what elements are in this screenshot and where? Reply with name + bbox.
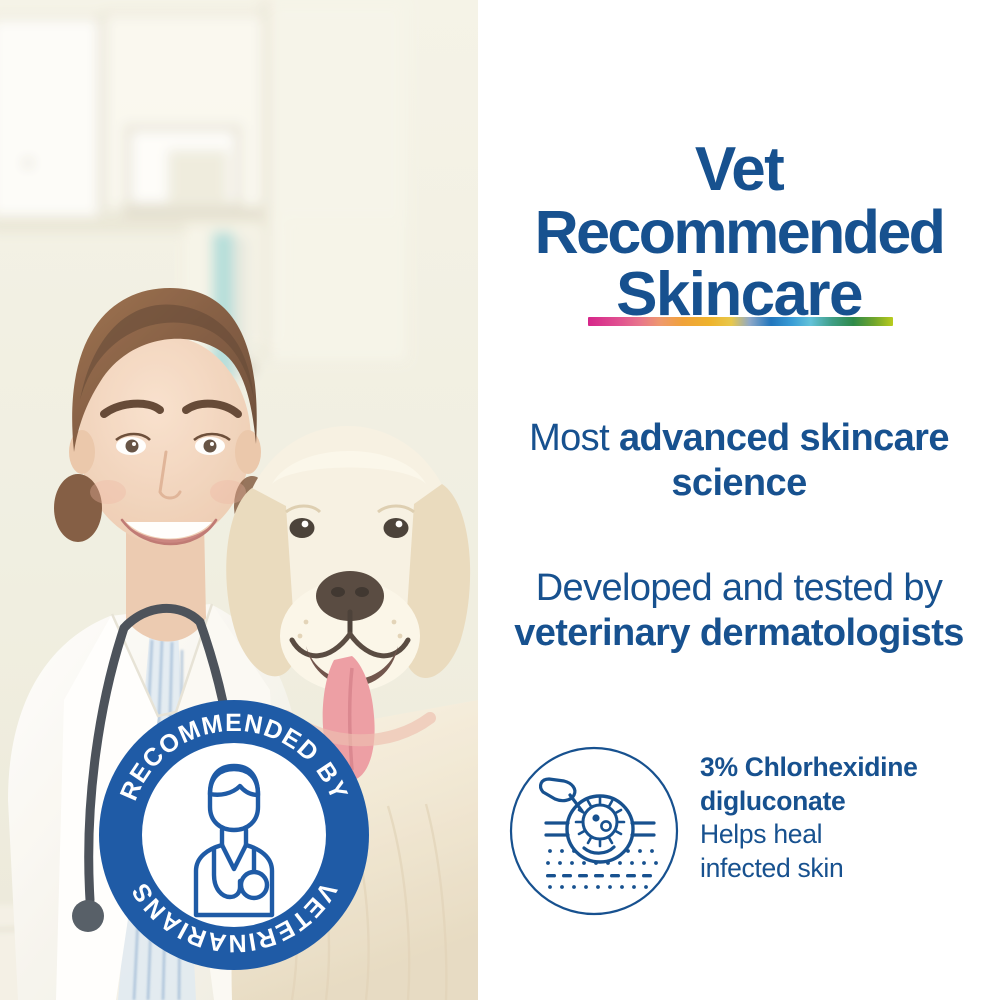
claims-content-panel: Vet Recommended Skincare Most advanced s… [478, 0, 1000, 1000]
claim-developed-tested: Developed and tested by veterinary derma… [478, 566, 1000, 656]
recommended-by-veterinarians-badge: RECOMMENDED BY VETERINARIANS [98, 699, 370, 971]
feature-title-line-2: digluconate [700, 785, 1000, 819]
bacteria-under-magnifier-icon [508, 745, 680, 917]
badge-graphic: RECOMMENDED BY VETERINARIANS [98, 699, 370, 971]
headline-line-1: Vet [478, 138, 1000, 201]
claim-1-bold: advanced skincare science [619, 417, 949, 504]
headline-line-2: Recommended [478, 201, 1000, 263]
page-title: Vet Recommended Skincare [478, 138, 1000, 327]
rainbow-gradient-divider [588, 317, 893, 326]
feature-description-line-2: infected skin [700, 852, 1000, 886]
claim-1-normal: Most [529, 417, 619, 459]
product-claims-panel: RECOMMENDED BY VETERINARIANS [0, 0, 1000, 1000]
icon-outline-circle [511, 748, 677, 914]
claim-advanced-science: Most advanced skincare science [478, 416, 1000, 506]
feature-text-block: 3% Chlorhexidine digluconate Helps heal … [700, 751, 1000, 886]
claim-2-bold: veterinary dermatologists [514, 612, 964, 654]
vet-and-dog-photo: RECOMMENDED BY VETERINARIANS [0, 0, 478, 1000]
feature-icon-graphic [508, 745, 680, 917]
claim-2-normal: Developed and tested by [536, 567, 943, 609]
feature-title-line-1: 3% Chlorhexidine [700, 751, 1000, 785]
active-ingredient-feature: 3% Chlorhexidine digluconate Helps heal … [508, 740, 998, 920]
feature-description-line-1: Helps heal [700, 818, 1000, 852]
